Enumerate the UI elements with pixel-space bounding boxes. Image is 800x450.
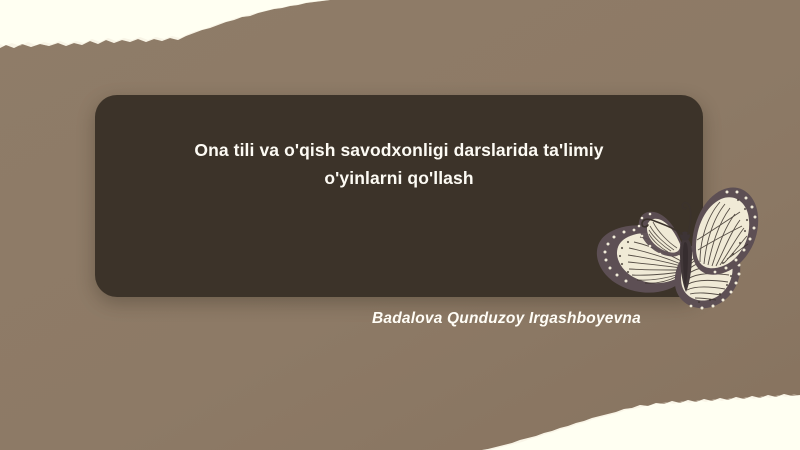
slide-canvas: Ona tili va o'qish savodxonligi darslari… [0, 0, 800, 450]
quote-card: Ona tili va o'qish savodxonligi darslari… [95, 95, 703, 297]
title-line-2: o'yinlarni qo'llash [129, 165, 669, 193]
page-title: Ona tili va o'qish savodxonligi darslari… [129, 137, 669, 192]
author-name: Badalova Qunduzoy Irgashboyevna [372, 310, 641, 328]
title-line-1: Ona tili va o'qish savodxonligi darslari… [129, 137, 669, 165]
